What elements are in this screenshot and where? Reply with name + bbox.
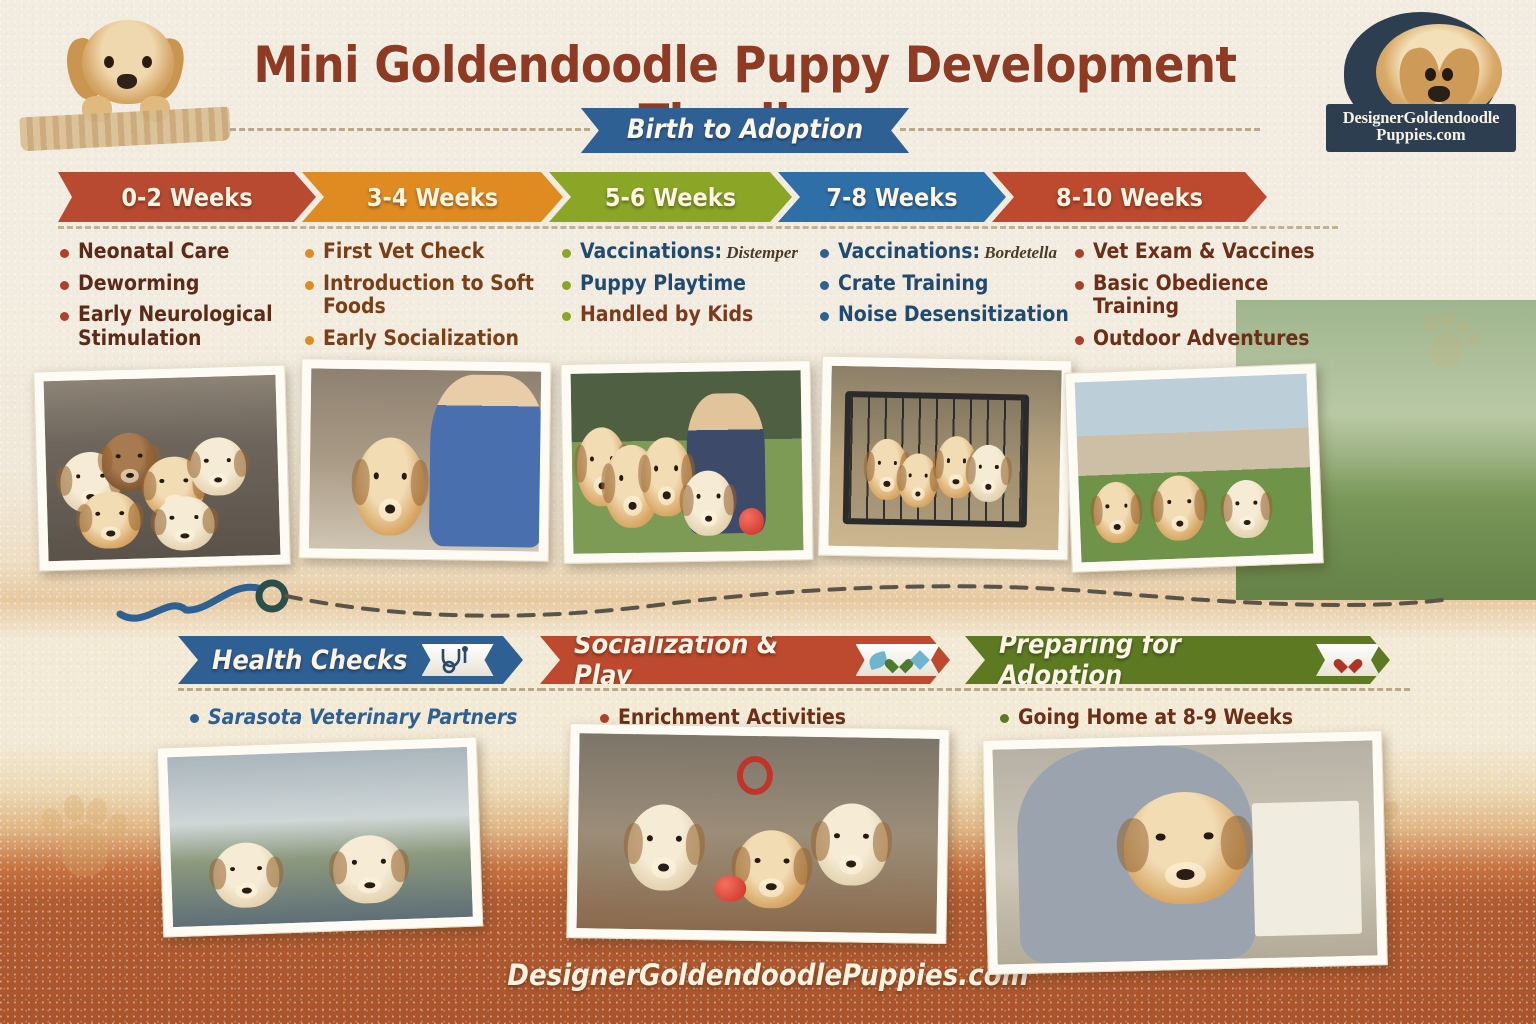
- timeline-stage-label: 0-2 Weeks: [121, 183, 252, 212]
- diamond-icon: [910, 650, 930, 670]
- timeline-stage-label: 3-4 Weeks: [367, 183, 498, 212]
- stage-bullet-emphasis: Bordetella: [980, 243, 1057, 262]
- stage-bullet: Deworming: [60, 272, 305, 296]
- stage-bullet: Early Socialization: [305, 327, 555, 351]
- stage-bullet: Vaccinations: Bordetella: [820, 240, 1070, 264]
- toys-icon: [856, 644, 940, 676]
- bottom-section-bullet-label: Sarasota Veterinary Partners: [208, 705, 517, 729]
- bullet-dot: [1075, 336, 1084, 345]
- bullet-dot: [60, 281, 69, 290]
- dashed-rule-left: [230, 128, 590, 131]
- bullet-dot: [305, 281, 314, 290]
- stage-bullet: First Vet Check: [305, 240, 555, 264]
- bullet-dot: [600, 714, 609, 723]
- stage-bullet: Handled by Kids: [562, 303, 812, 327]
- subtitle-banner: Birth to Adoption: [581, 108, 909, 153]
- timeline-stage-bar: 0-2 Weeks3-4 Weeks5-6 Weeks7-8 Weeks8-10…: [58, 172, 1323, 222]
- stage-column-1: Neonatal CareDewormingEarly Neurological…: [60, 240, 305, 358]
- stage-photo-3: [560, 360, 813, 564]
- owner-holding-puppy-with-tote-bag: [992, 740, 1377, 964]
- bullet-dot: [190, 714, 199, 723]
- puppies-on-grass-outdoors: [1075, 374, 1314, 563]
- bottom-section-underline: [965, 688, 1410, 691]
- stage-column-2: First Vet CheckIntroduction to Soft Food…: [305, 240, 555, 358]
- timeline-stage-label: 5-6 Weeks: [605, 183, 736, 212]
- stage-bullet: Noise Desensitization: [820, 303, 1070, 327]
- dashed-rule-right: [900, 128, 1260, 131]
- infographic-canvas: Mini Goldendoodle Puppy Development Time…: [0, 0, 1536, 1024]
- stage-bullet: Puppy Playtime: [562, 272, 812, 296]
- subtitle-bar: Birth to Adoption: [230, 108, 1260, 150]
- bullet-dot: [562, 249, 571, 258]
- timeline-stage-1[interactable]: 0-2 Weeks: [58, 172, 316, 222]
- stage-bullet: Early Neurological Stimulation: [60, 303, 305, 350]
- bottom-section-underline: [178, 688, 543, 691]
- bottom-section-banner-1[interactable]: Health Checks: [178, 636, 523, 684]
- stage-bullet-label: Noise Desensitization: [838, 303, 1069, 327]
- stage-bullet: Basic Obedience Training: [1075, 272, 1325, 319]
- basket-icon: [19, 107, 230, 152]
- timeline-stage-label: 7-8 Weeks: [826, 183, 957, 212]
- puppies-with-toys-in-play-yard: [576, 733, 939, 934]
- bullet-dot: [60, 312, 69, 321]
- stage-bullet-label: Vaccinations: Distemper: [580, 240, 798, 264]
- stage-bullet-label: Puppy Playtime: [580, 272, 746, 296]
- bullet-dot: [1000, 714, 1009, 723]
- divider-svg: [90, 570, 1450, 630]
- timeline-underline: [58, 226, 1338, 229]
- stethoscope-glyph: [435, 646, 481, 674]
- stage-bullet-label: Deworming: [78, 272, 199, 296]
- timeline-stage-4[interactable]: 7-8 Weeks: [778, 172, 1006, 222]
- bottom-section-photo-1: [157, 736, 483, 937]
- bottom-section-bullet: Going Home at 8-9 Weeks: [1000, 705, 1293, 729]
- stage-bullet: Vaccinations: Distemper: [562, 240, 812, 264]
- bottom-section-underline: [540, 688, 970, 691]
- stage-bullet-label: Crate Training: [838, 272, 988, 296]
- wavy-dashed-divider: [90, 570, 1450, 630]
- bullet-dot: [1075, 281, 1084, 290]
- stethoscope-icon: [422, 644, 494, 676]
- stage-bullet: Neonatal Care: [60, 240, 305, 264]
- stage-bullet-label: First Vet Check: [323, 240, 484, 264]
- bullet-dot: [820, 281, 829, 290]
- logo-line-2: Puppies.com: [1330, 127, 1512, 144]
- stage-bullet: Vet Exam & Vaccines: [1075, 240, 1325, 264]
- heart-icon: [1316, 644, 1380, 676]
- stage-photo-1: [33, 365, 290, 572]
- bullet-dot: [820, 312, 829, 321]
- stage-bullet: Outdoor Adventures: [1075, 327, 1325, 351]
- bottom-section-photo-3: [982, 730, 1388, 975]
- stage-bullet-label: Introduction to Soft Foods: [323, 272, 555, 319]
- bullet-dot: [60, 249, 69, 258]
- bottom-section-bullet-label: Going Home at 8-9 Weeks: [1018, 705, 1293, 729]
- bullet-dot: [820, 249, 829, 258]
- bullet-dot: [562, 312, 571, 321]
- bottom-section-banner-3[interactable]: Preparing for Adoption: [965, 636, 1390, 684]
- bottom-section-label: Preparing for Adoption: [999, 629, 1302, 691]
- bottom-section-bullet: Sarasota Veterinary Partners: [190, 705, 517, 729]
- bullet-dot: [305, 336, 314, 345]
- bottom-section-banner-2[interactable]: Socialization & Play: [540, 636, 950, 684]
- timeline-stage-3[interactable]: 5-6 Weeks: [549, 172, 792, 222]
- timeline-stage-2[interactable]: 3-4 Weeks: [302, 172, 563, 222]
- stage-photo-4: [818, 356, 1072, 561]
- stage-bullet-label: Early Neurological Stimulation: [78, 303, 305, 350]
- stage-bullet: Crate Training: [820, 272, 1070, 296]
- heart-icon: [1340, 652, 1357, 668]
- newborn-puppies-in-whelping-box: [44, 375, 281, 561]
- bullet-dot: [1075, 249, 1084, 258]
- logo-wordmark: DesignerGoldendoodle Puppies.com: [1326, 104, 1516, 152]
- timeline-stage-label: 8-10 Weeks: [1056, 183, 1203, 212]
- bottom-section-label: Health Checks: [212, 645, 408, 676]
- stage-bullet-label: Vet Exam & Vaccines: [1093, 240, 1315, 264]
- bullet-dot: [562, 281, 571, 290]
- timeline-stage-5[interactable]: 8-10 Weeks: [992, 172, 1267, 222]
- child-playing-with-puppies: [571, 370, 804, 554]
- stage-bullet-emphasis: Distemper: [722, 243, 798, 262]
- bullet-dot: [305, 249, 314, 258]
- veterinarian-examining-puppy: [309, 368, 541, 551]
- stage-bullet-label: Early Socialization: [323, 327, 519, 351]
- stage-column-3: Vaccinations: DistemperPuppy PlaytimeHan…: [562, 240, 812, 335]
- puppy-in-basket-illustration: [20, 14, 230, 144]
- stage-bullet: Introduction to Soft Foods: [305, 272, 555, 319]
- stage-column-5: Vet Exam & VaccinesBasic Obedience Train…: [1075, 240, 1325, 358]
- stage-column-4: Vaccinations: BordetellaCrate TrainingNo…: [820, 240, 1070, 335]
- stage-bullet-label: Basic Obedience Training: [1093, 272, 1325, 319]
- stage-bullet-label: Vaccinations: Bordetella: [838, 240, 1057, 264]
- brand-logo[interactable]: DesignerGoldendoodle Puppies.com: [1326, 12, 1516, 172]
- stage-photo-5: [1064, 363, 1323, 573]
- stage-bullet-label: Handled by Kids: [580, 303, 753, 327]
- stage-bullet-label: Neonatal Care: [78, 240, 229, 264]
- bottom-section-label: Socialization & Play: [574, 629, 842, 691]
- puppies-in-crate: [828, 366, 1061, 550]
- stage-bullet-label: Outdoor Adventures: [1093, 327, 1310, 351]
- bottom-section-photo-2: [566, 723, 949, 944]
- puppies-outside-veterinary-clinic: [167, 747, 473, 927]
- heart-icon: [891, 652, 908, 668]
- stage-photo-2: [299, 358, 552, 561]
